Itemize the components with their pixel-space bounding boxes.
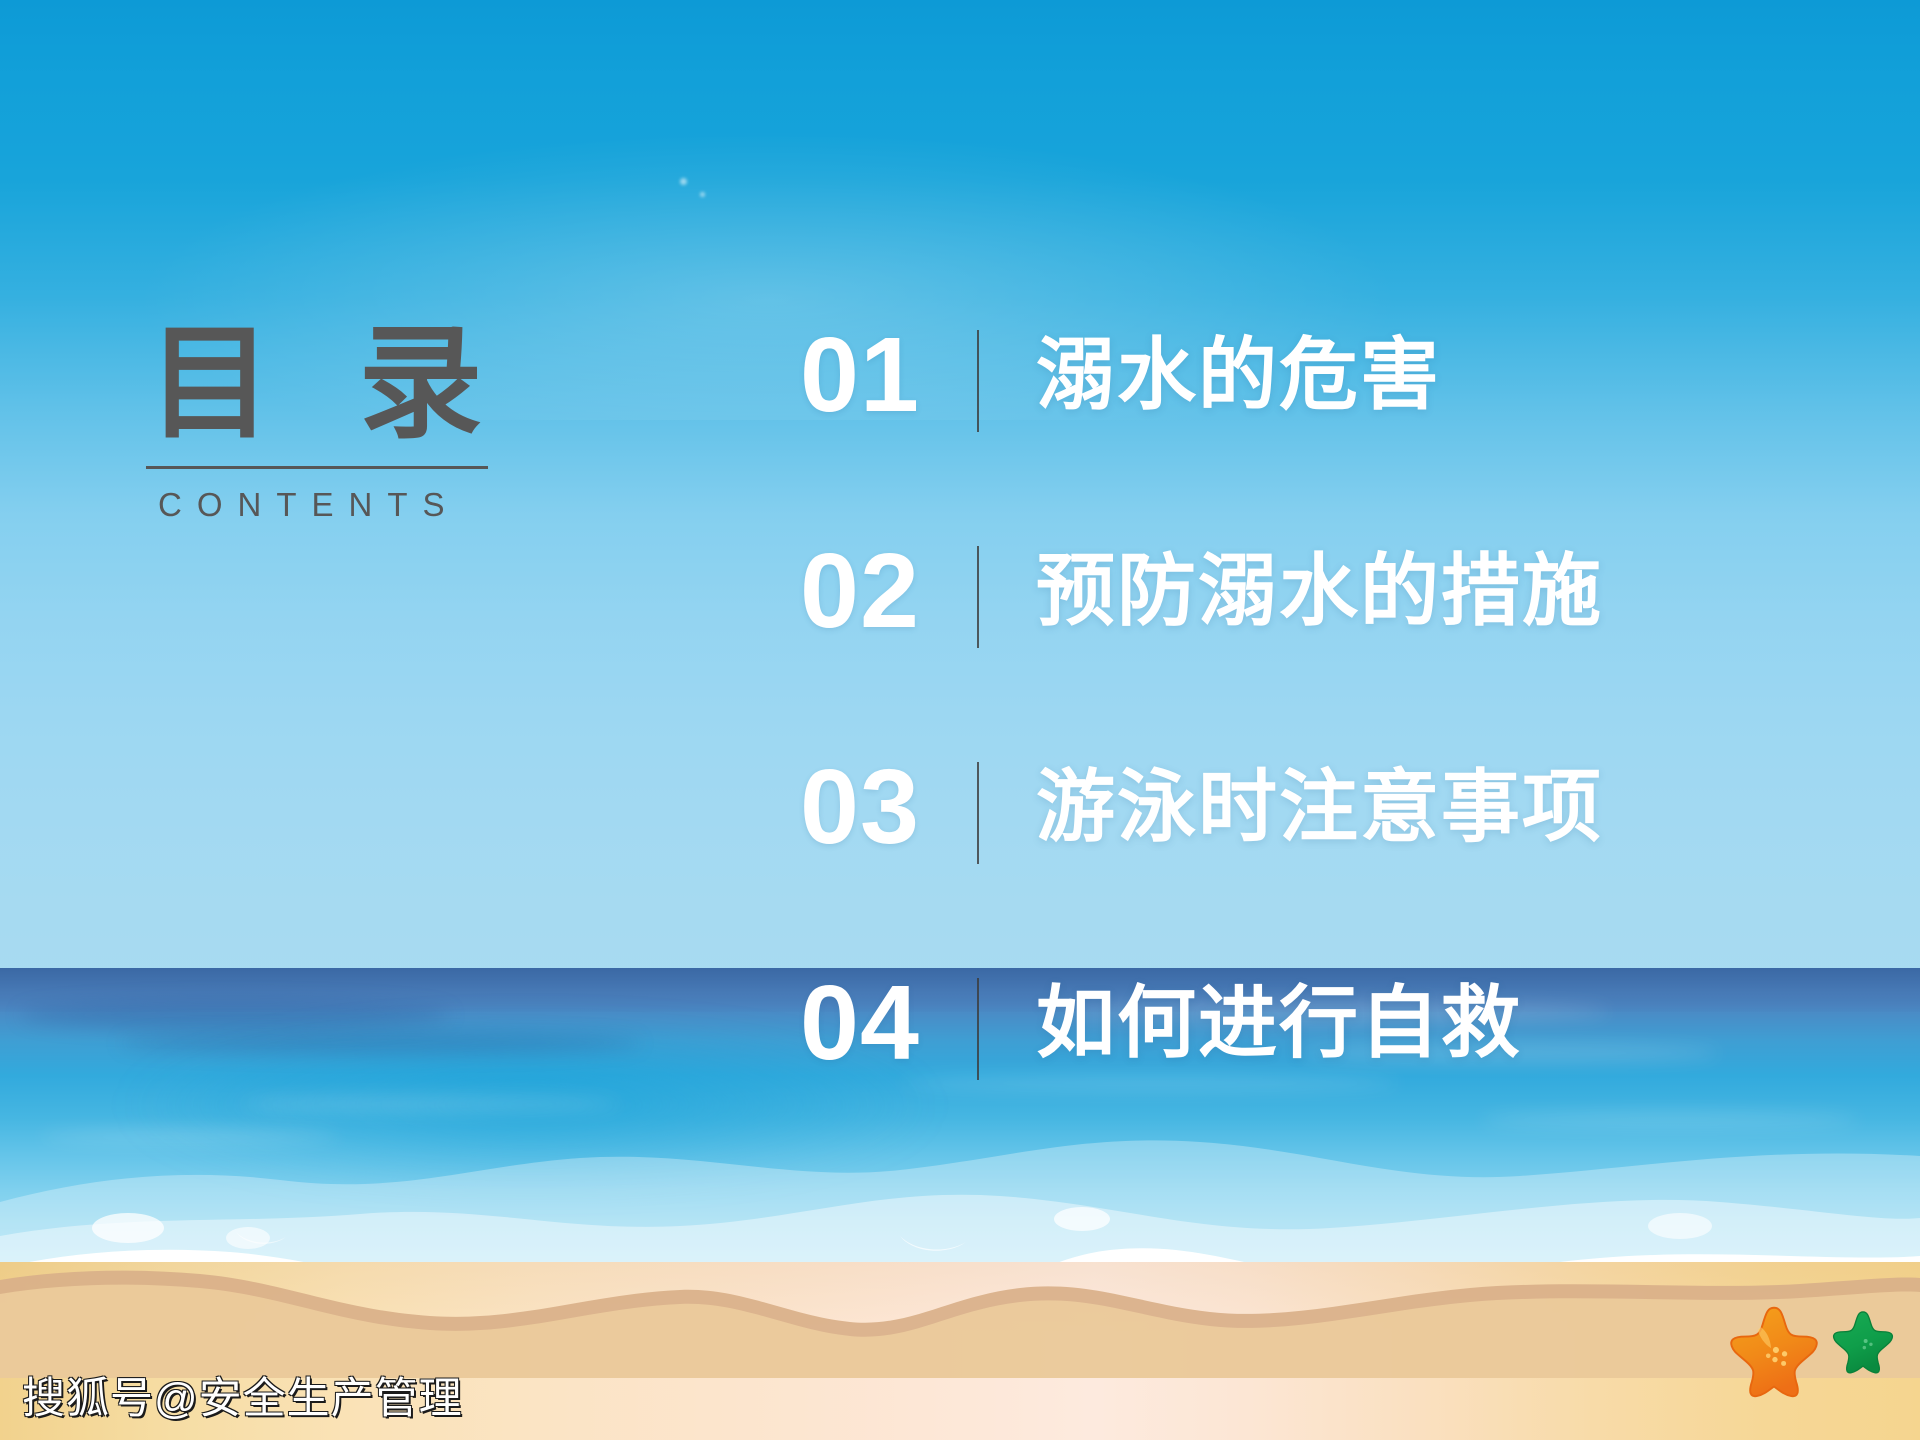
wet-sand-edge-svg [0,1238,1920,1378]
contents-item-divider [977,762,979,864]
page-title: 目 录 [146,318,524,452]
contents-item-number: 04 [800,966,920,1080]
starfish-green-shape [1830,1306,1896,1376]
contents-item-divider [977,330,979,432]
contents-item-01[interactable]: 01 溺水的危害 [800,318,1700,534]
contents-item-label: 如何进行自救 [1036,976,1522,1069]
sky-speck-icon [700,192,705,197]
slide-canvas: 目 录 CONTENTS 01 溺水的危害 02 预防溺水的措施 03 游泳时注… [0,0,1920,1440]
title-divider [146,466,488,469]
contents-item-divider [977,978,979,1080]
starfish-green-icon [1830,1306,1896,1376]
contents-item-divider [977,546,979,648]
starfish-orange-icon [1726,1300,1822,1400]
contents-item-02[interactable]: 02 预防溺水的措施 [800,534,1700,750]
ocean-streak [20,1000,450,1030]
contents-item-label: 溺水的危害 [1036,328,1441,421]
ocean-streak [120,1032,640,1054]
contents-list: 01 溺水的危害 02 预防溺水的措施 03 游泳时注意事项 04 如何进行自救 [800,318,1700,1182]
title-block: 目 录 CONTENTS [144,318,524,524]
contents-item-label: 游泳时注意事项 [1036,760,1603,853]
contents-item-number: 02 [800,534,920,648]
contents-item-number: 01 [800,318,920,432]
sky-speck-icon [680,178,687,185]
page-subtitle: CONTENTS [158,486,524,524]
ocean-streak [240,1096,620,1112]
contents-item-03[interactable]: 03 游泳时注意事项 [800,750,1700,966]
contents-item-label: 预防溺水的措施 [1036,544,1603,637]
contents-item-04[interactable]: 04 如何进行自救 [800,966,1700,1182]
contents-item-number: 03 [800,750,920,864]
starfish-orange-shape [1726,1300,1822,1400]
watermark-text: 搜狐号@安全生产管理 [22,1364,463,1426]
